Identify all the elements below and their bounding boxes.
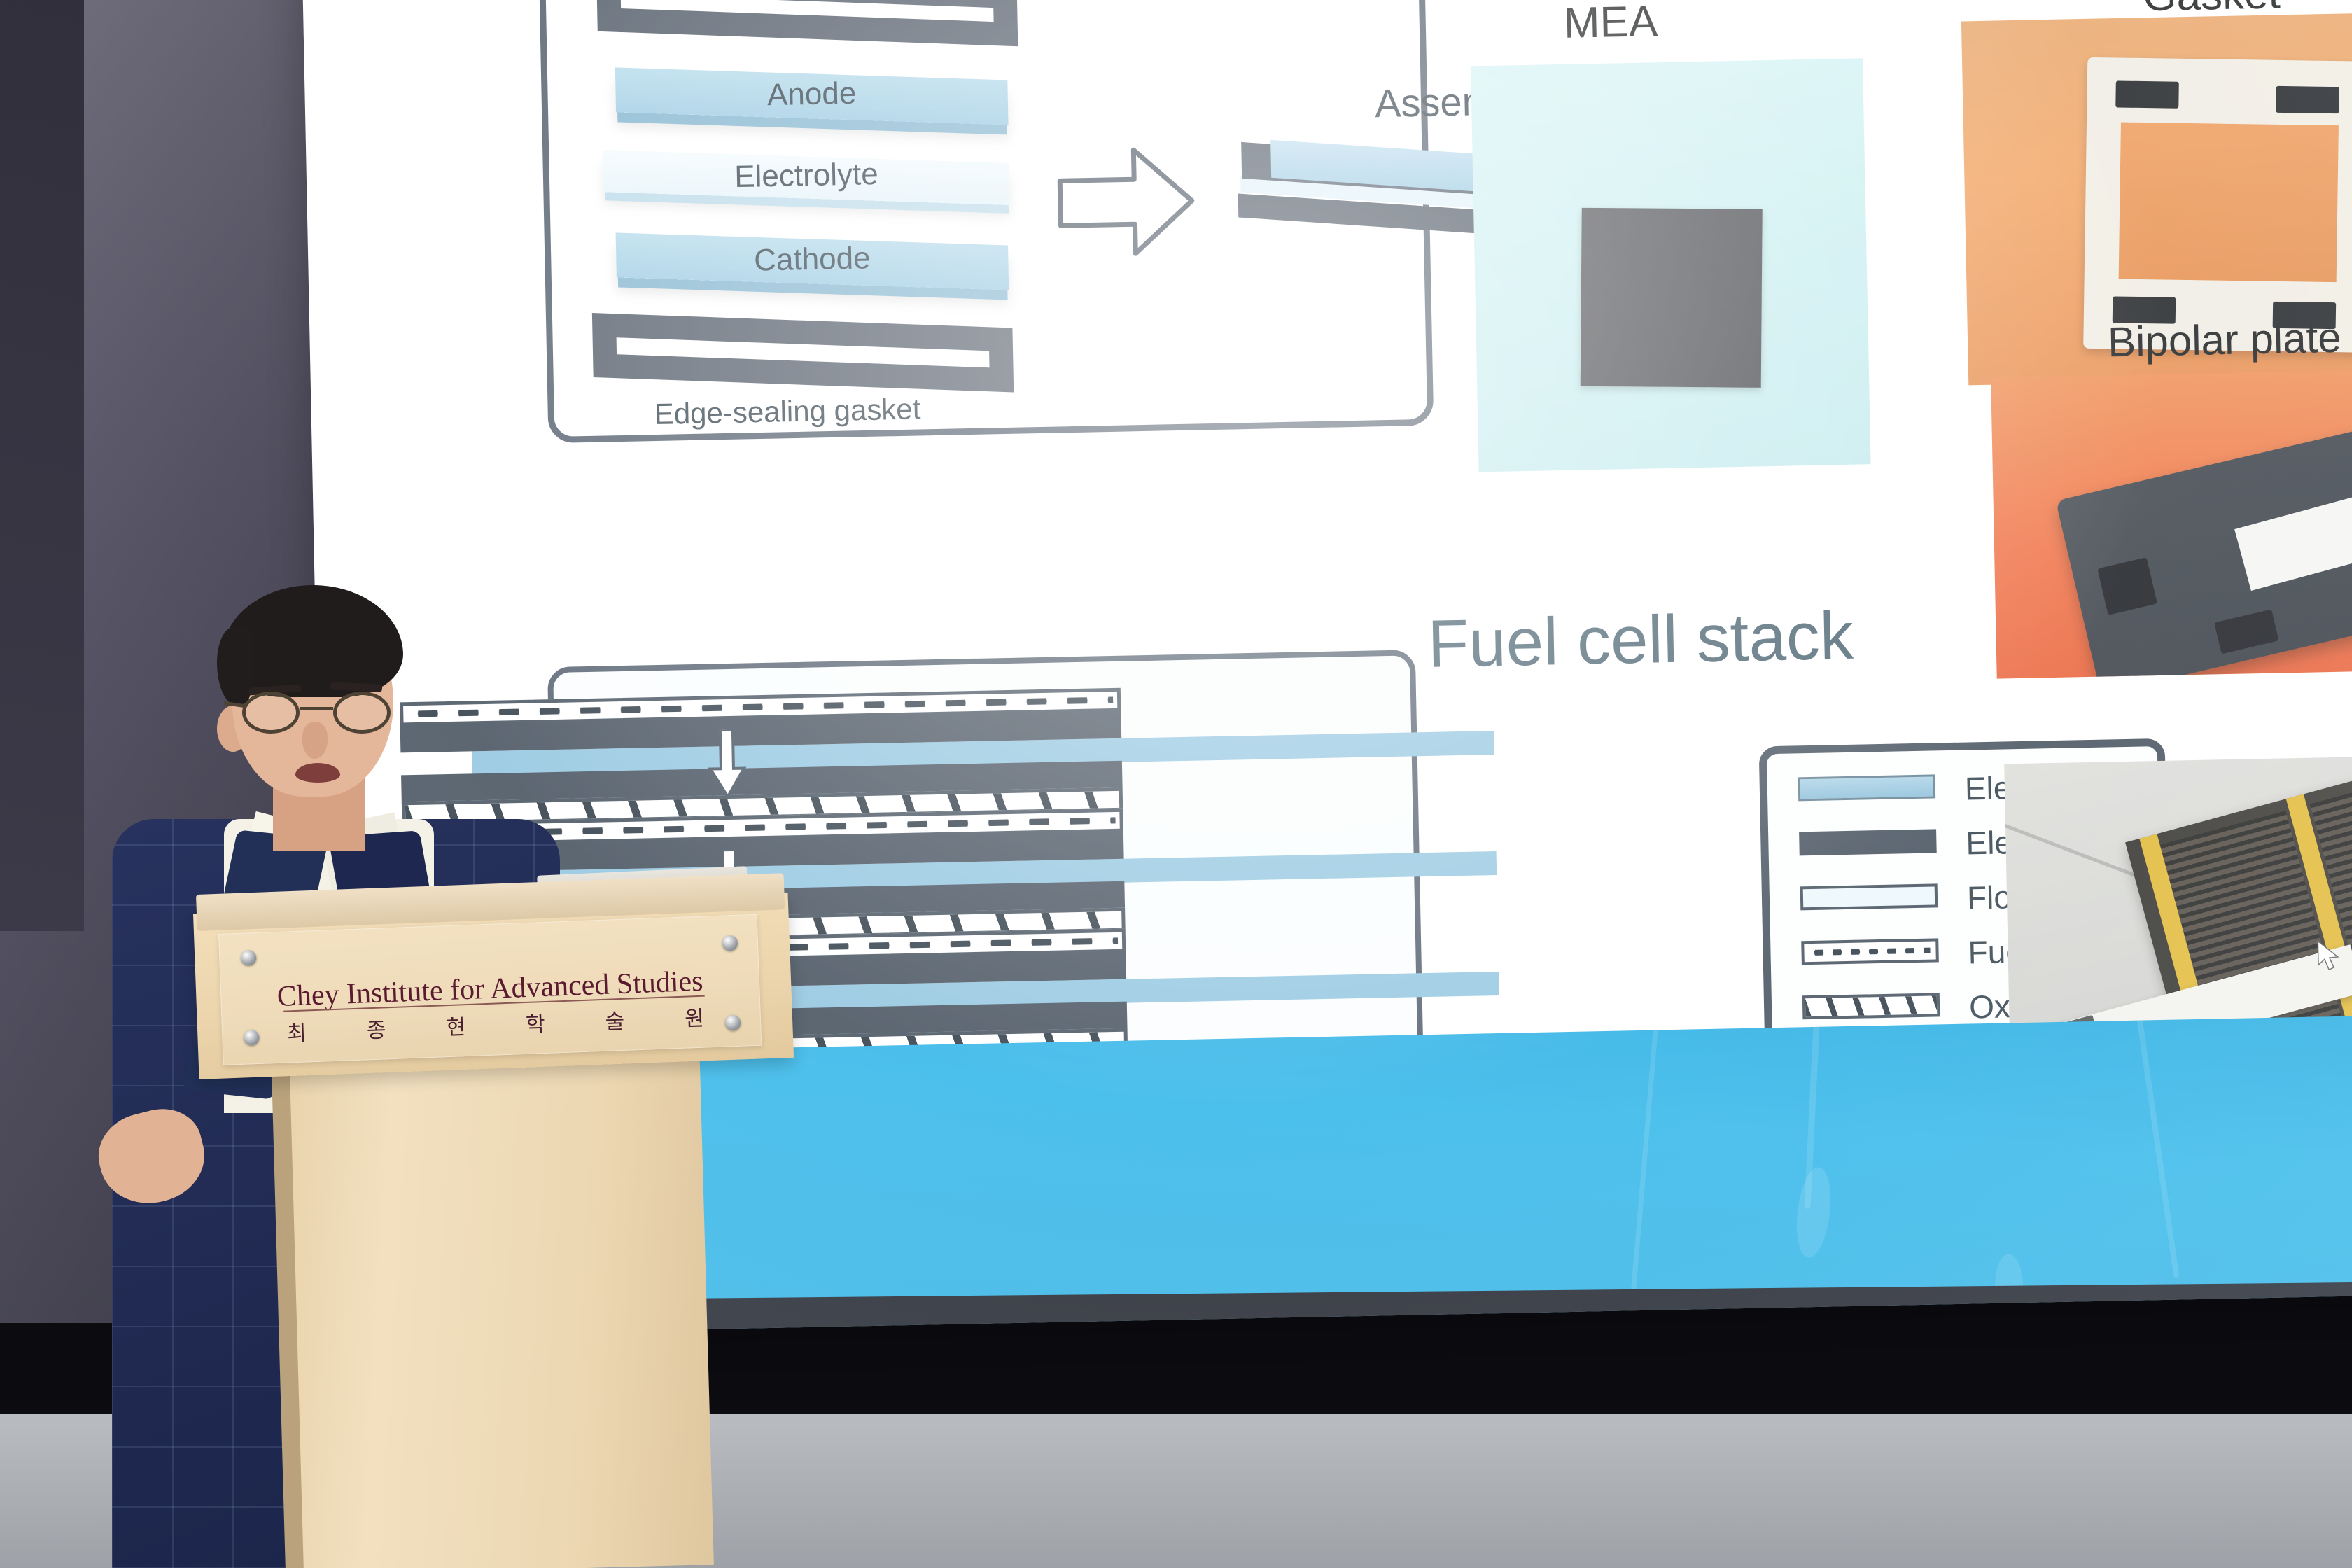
bipolar-plate-sticker [2234, 491, 2352, 590]
layer-anode: Anode [615, 70, 1008, 122]
nameplate-standoff [725, 1015, 741, 1031]
right-arrow-icon [1055, 141, 1197, 263]
nameplate-standoff [244, 1030, 260, 1046]
korean-char: 원 [684, 1001, 704, 1032]
speaker-glasses [242, 692, 391, 734]
oxidant-swatch [1802, 993, 1940, 1019]
layer-edge-sealing-gasket-top [596, 0, 1018, 43]
fuel-swatch [1801, 938, 1939, 965]
korean-char: 학 [525, 1007, 545, 1038]
mea-photo [1471, 58, 1871, 472]
nameplate-standoff [722, 935, 738, 951]
ion-flux-arrow-icon [707, 729, 748, 803]
electrolyte-swatch [1798, 774, 1936, 801]
layer-edge-sealing-gasket-bottom [592, 316, 1014, 389]
backdrop-dark-panel [0, 0, 84, 931]
layer-cathode: Cathode [616, 235, 1009, 288]
fuel-cell-stack-heading: Fuel cell stack [1427, 598, 1854, 683]
nameplate-standoff [241, 950, 257, 966]
podium-nameplate: Chey Institute for Advanced Studies 최 종 … [218, 914, 762, 1065]
electrode-swatch [1799, 829, 1937, 855]
bipolar-plate-photo [1991, 368, 2352, 679]
presentation-photo: ge? Edge-sealing gasket Anode Electrolyt… [0, 0, 2352, 1568]
korean-char: 술 [605, 1004, 625, 1035]
bipolar-plate-label: Bipolar plate [2107, 314, 2341, 367]
podium: Chey Institute for Advanced Studies 최 종 … [196, 895, 784, 1568]
layer-label-edge-sealing-gasket-bottom: Edge-sealing gasket [654, 392, 920, 431]
gasket-window [2118, 122, 2338, 282]
podium-body [279, 1060, 714, 1568]
layer-electrolyte: Electrolyte [603, 153, 1009, 203]
korean-char: 최 [286, 1015, 307, 1046]
mea-membrane [1581, 208, 1763, 388]
speaker-mouth [295, 763, 340, 783]
flow-structure-swatch [1800, 883, 1938, 910]
korean-char: 현 [446, 1009, 466, 1041]
gasket-part [2083, 57, 2352, 353]
korean-char: 종 [366, 1012, 386, 1044]
speaker-hair [223, 585, 403, 697]
mea-label: MEA [1563, 0, 1658, 48]
bipolar-plate-part [2056, 405, 2352, 678]
